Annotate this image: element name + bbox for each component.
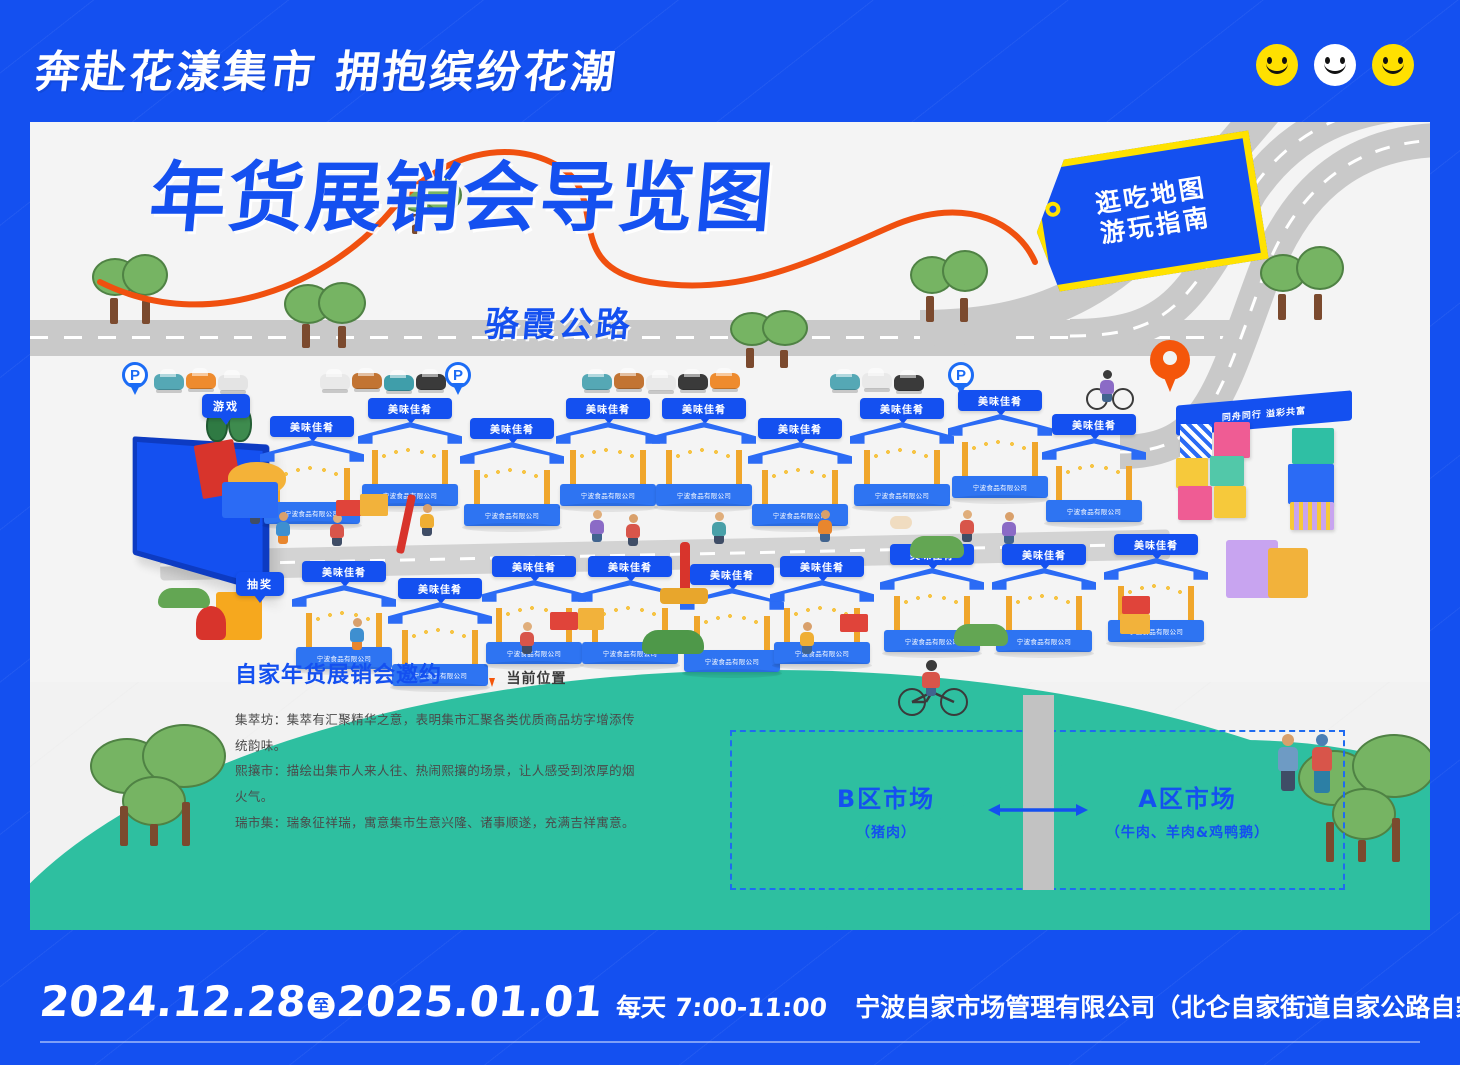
gift-stack-icon: [1120, 614, 1150, 634]
booth-sign: 美味佳肴: [398, 578, 482, 599]
legend-paragraph: 熙攘市：描绘出集市人来人往、热闹熙攘的场景，让人感受到浓厚的烟火气。: [235, 758, 635, 809]
car-icon: [154, 374, 184, 390]
booth-sign: 美味佳肴: [588, 556, 672, 577]
legend-paragraph: 瑞市集：瑞象征祥瑞，寓意集市生意兴隆、诸事顺遂，充满吉祥寓意。: [235, 810, 635, 836]
gift-stack-icon: [1122, 596, 1150, 614]
booth-sign: 美味佳肴: [368, 398, 452, 419]
footer-date-end: 2025.01.01: [334, 977, 605, 1026]
legend-paragraph: 集萃坊：集萃有汇聚精华之意，表明集市汇聚各类优质商品坊字增添传统韵味。: [235, 707, 635, 758]
tree-icon: [284, 282, 368, 348]
booth-stall[interactable]: 美味佳肴 宁波食品有限公司: [460, 434, 564, 526]
gift-stack-icon: [360, 494, 388, 516]
gate-block-icon: [1214, 422, 1250, 458]
booth-stall[interactable]: 美味佳肴 宁波食品有限公司: [1042, 430, 1146, 522]
bush-icon: [642, 630, 704, 654]
car-icon: [186, 373, 216, 389]
dog-icon: [890, 516, 912, 529]
car-icon: [614, 373, 644, 389]
parking-pin-icon[interactable]: P: [445, 362, 471, 396]
booth-sign: 美味佳肴: [780, 556, 864, 577]
smiley-group: [1256, 44, 1414, 86]
gate-block-icon: [1290, 502, 1334, 530]
zone-a-sub: （牛肉、羊肉&鸡鸭鹅）: [1106, 822, 1269, 842]
booth-sign: 美味佳肴: [662, 398, 746, 419]
gift-bag-icon: [1268, 548, 1308, 598]
shopper-figure: [626, 514, 640, 542]
zone-double-arrow-icon: [988, 802, 1088, 818]
footer-date-start: 2024.12.28: [37, 977, 308, 1026]
car-icon: [830, 374, 860, 390]
gate-block-icon: [1180, 424, 1212, 458]
gate-block-icon: [1214, 486, 1246, 518]
car-icon: [646, 375, 676, 391]
booth-stall[interactable]: 美味佳肴 宁波食品有限公司: [748, 434, 852, 526]
booth-sign: 美味佳肴: [270, 416, 354, 437]
footer-zhi-badge: 至: [307, 992, 334, 1019]
car-icon: [352, 373, 382, 389]
red-pouch-icon: [196, 606, 226, 640]
firecracker-icon: [680, 542, 690, 594]
legend-block: 自家年货展销会邀约 当前位置 集萃坊：集萃有汇聚精华之意，表明集市汇聚各类优质商…: [235, 657, 655, 835]
gift-box-icon: [222, 482, 278, 518]
footer-company: 宁波自家市场管理有限公司（北仑自家街道自家公路自家山8号）: [855, 995, 1460, 1023]
shopper-figure: [330, 514, 344, 542]
zone-b-sub: （猪肉）: [856, 822, 916, 842]
zone-b-name: B区市场: [837, 779, 935, 814]
smiley-white-icon: [1314, 44, 1356, 86]
legend-title: 自家年货展销会邀约: [235, 657, 442, 689]
booth-sign: 美味佳肴: [758, 418, 842, 439]
header-slogan: 奔赴花漾集市 拥抱缤纷花潮: [32, 36, 622, 100]
poster-footer: 2024.12.28至2025.01.01 每天 7:00-11:00 宁波自家…: [0, 930, 1460, 1065]
shopper-figure: [350, 618, 364, 646]
gate-block-icon: [1178, 486, 1212, 520]
gift-stack-icon: [578, 608, 604, 630]
entrance-gate: 同舟同行 溢彩共富: [1162, 390, 1362, 530]
tree-icon: [92, 254, 170, 324]
car-icon: [710, 373, 740, 389]
bush-icon: [910, 536, 964, 558]
gate-block-icon: [1288, 464, 1334, 504]
gate-block-icon: [1292, 428, 1334, 464]
shopper-figure: [800, 622, 814, 650]
car-icon: [862, 373, 892, 389]
title-block: 年货展销会导览图: [150, 160, 774, 236]
booth-stall[interactable]: 美味佳肴 宁波食品有限公司: [358, 414, 462, 506]
tree-icon: [90, 714, 230, 846]
footer-divider: [40, 1041, 1420, 1043]
booth-sign: 美味佳肴: [566, 398, 650, 419]
car-icon: [894, 375, 924, 391]
gift-stack-icon: [336, 500, 362, 516]
car-icon: [416, 374, 446, 390]
poster-header: 奔赴花漾集市 拥抱缤纷花潮: [0, 0, 1460, 122]
smiley-yellow-icon: [1256, 44, 1298, 86]
car-icon: [320, 374, 350, 390]
booth-stall[interactable]: 美味佳肴 宁波食品有限公司: [556, 414, 660, 506]
road-label: 骆霞公路: [483, 297, 635, 346]
legend-current-location-label: 当前位置: [506, 668, 566, 688]
booth-sign: 美味佳肴: [690, 564, 774, 585]
car-icon: [218, 375, 248, 391]
booth-stall[interactable]: 美味佳肴 宁波食品有限公司: [850, 414, 954, 506]
cyclist-figure: [898, 652, 970, 716]
booth-stall[interactable]: 美味佳肴 宁波食品有限公司: [292, 577, 396, 669]
booth-sign: 美味佳肴: [1052, 414, 1136, 435]
tree-icon: [910, 250, 990, 322]
footer-time: 每天 7:00-11:00: [615, 995, 828, 1023]
shopper-figure: [818, 510, 832, 538]
bush-icon: [158, 588, 210, 608]
shopper-figure: [1002, 512, 1016, 540]
bush-icon: [954, 624, 1008, 646]
booth-sign: 美味佳肴: [492, 556, 576, 577]
shopper-figure: [712, 512, 726, 540]
footer-date: 2024.12.28至2025.01.01: [38, 981, 605, 1023]
booth-sign: 美味佳肴: [1114, 534, 1198, 555]
map-canvas: 享设计 享设计 享设计 享设计 享设计 享设计 骆霞公路 年货展销会导览图 逛吃…: [30, 122, 1430, 930]
gift-stack-icon: [840, 614, 868, 632]
cyclist-figure: [1086, 370, 1136, 412]
gate-block-icon: [1176, 458, 1208, 488]
footer-info-row: 2024.12.28至2025.01.01 每天 7:00-11:00 宁波自家…: [40, 981, 1460, 1023]
tree-icon: [1260, 246, 1346, 320]
page-title: 年货展销会导览图: [147, 160, 778, 236]
booth-sign: 美味佳肴: [860, 398, 944, 419]
booth-stall[interactable]: 美味佳肴 宁波食品有限公司: [652, 414, 756, 506]
tree-icon: [730, 310, 812, 368]
booth-sign: 美味佳肴: [1002, 544, 1086, 565]
gift-stack-icon: [550, 612, 578, 630]
current-location-pin-icon[interactable]: [1150, 340, 1190, 394]
car-icon: [582, 374, 612, 390]
car-icon: [384, 375, 414, 391]
zone-a-name: A区市场: [1138, 779, 1237, 814]
shopper-figure: [590, 510, 604, 538]
gate-block-icon: [1210, 456, 1244, 486]
marker-game[interactable]: 游戏: [202, 394, 250, 418]
smiley-yellow-icon-2: [1372, 44, 1414, 86]
legend-current-location: 当前位置: [484, 667, 566, 688]
car-icon: [678, 374, 708, 390]
booth-sign: 美味佳肴: [958, 390, 1042, 411]
zone-diagram: B区市场 （猪肉） A区市场 （牛肉、羊肉&鸡鸭鹅）: [730, 730, 1345, 890]
marker-lottery[interactable]: 抽奖: [236, 572, 284, 596]
booth-sign: 美味佳肴: [302, 561, 386, 582]
booth-sign: 美味佳肴: [470, 418, 554, 439]
shopper-figure: [960, 510, 974, 538]
poster-root: 奔赴花漾集市 拥抱缤纷花潮 享设计 享设计 享设计 享设计 享设计 享设计 骆霞…: [0, 0, 1460, 1065]
shopper-figure: [520, 622, 534, 650]
zone-divider-wall: [1023, 695, 1054, 890]
location-pin-icon: [484, 667, 499, 688]
parking-pin-icon[interactable]: P: [122, 362, 148, 396]
shopper-figure: [420, 504, 434, 532]
shopper-figure: [276, 512, 290, 540]
firecracker-base-icon: [660, 588, 708, 604]
booth-stall[interactable]: 美味佳肴 宁波食品有限公司: [948, 406, 1052, 498]
